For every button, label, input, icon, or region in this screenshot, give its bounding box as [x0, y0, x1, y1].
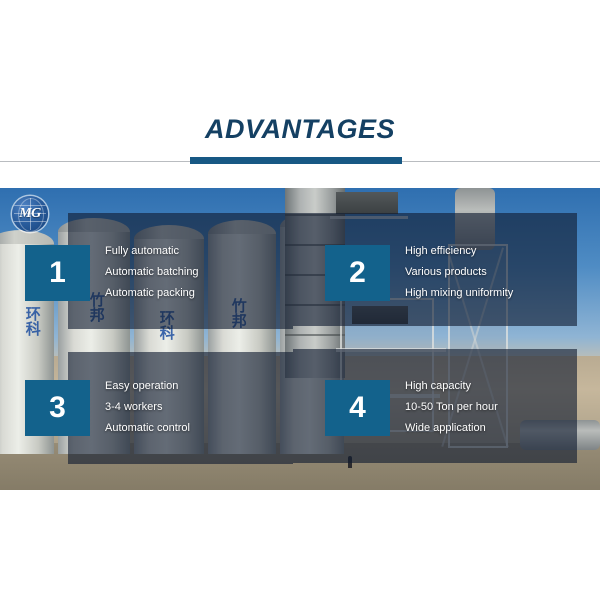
advantage-number-box-4: 4 — [325, 380, 390, 436]
advantage-line: Automatic packing — [105, 283, 199, 304]
advantage-line: High mixing uniformity — [405, 283, 513, 304]
advantage-line: Automatic control — [105, 418, 190, 439]
advantages-banner: ADVANTAGES 环科 竹邦 环科 竹邦 环科 — [0, 0, 600, 600]
advantage-line: Easy operation — [105, 376, 190, 397]
header-accent-bar — [190, 157, 402, 164]
logo-text: MG — [12, 206, 48, 222]
page-title: ADVANTAGES — [0, 114, 600, 145]
background-photo: 环科 竹邦 环科 竹邦 环科 — [0, 188, 600, 490]
globe-icon: MG — [12, 196, 48, 232]
footer-whitespace — [0, 490, 600, 600]
advantage-line: Fully automatic — [105, 241, 199, 262]
advantage-number-box-2: 2 — [325, 245, 390, 301]
advantage-number-2: 2 — [349, 258, 366, 288]
advantage-line: 10-50 Ton per hour — [405, 397, 498, 418]
silo-marking: 环科 — [24, 306, 40, 336]
advantage-text-1: Fully automatic Automatic batching Autom… — [105, 241, 199, 304]
advantage-number-3: 3 — [49, 393, 66, 423]
advantage-line: Wide application — [405, 418, 498, 439]
advantage-line: High capacity — [405, 376, 498, 397]
advantage-line: Automatic batching — [105, 262, 199, 283]
advantage-number-box-3: 3 — [25, 380, 90, 436]
advantage-number-box-1: 1 — [25, 245, 90, 301]
advantage-number-4: 4 — [349, 393, 366, 423]
advantage-line: Various products — [405, 262, 513, 283]
advantage-line: 3-4 workers — [105, 397, 190, 418]
advantage-text-3: Easy operation 3-4 workers Automatic con… — [105, 376, 190, 439]
advantage-text-4: High capacity 10-50 Ton per hour Wide ap… — [405, 376, 498, 439]
advantage-text-2: High efficiency Various products High mi… — [405, 241, 513, 304]
advantage-line: High efficiency — [405, 241, 513, 262]
header: ADVANTAGES — [0, 0, 600, 188]
tower-top-machinery — [336, 192, 398, 214]
advantage-number-1: 1 — [49, 258, 66, 288]
